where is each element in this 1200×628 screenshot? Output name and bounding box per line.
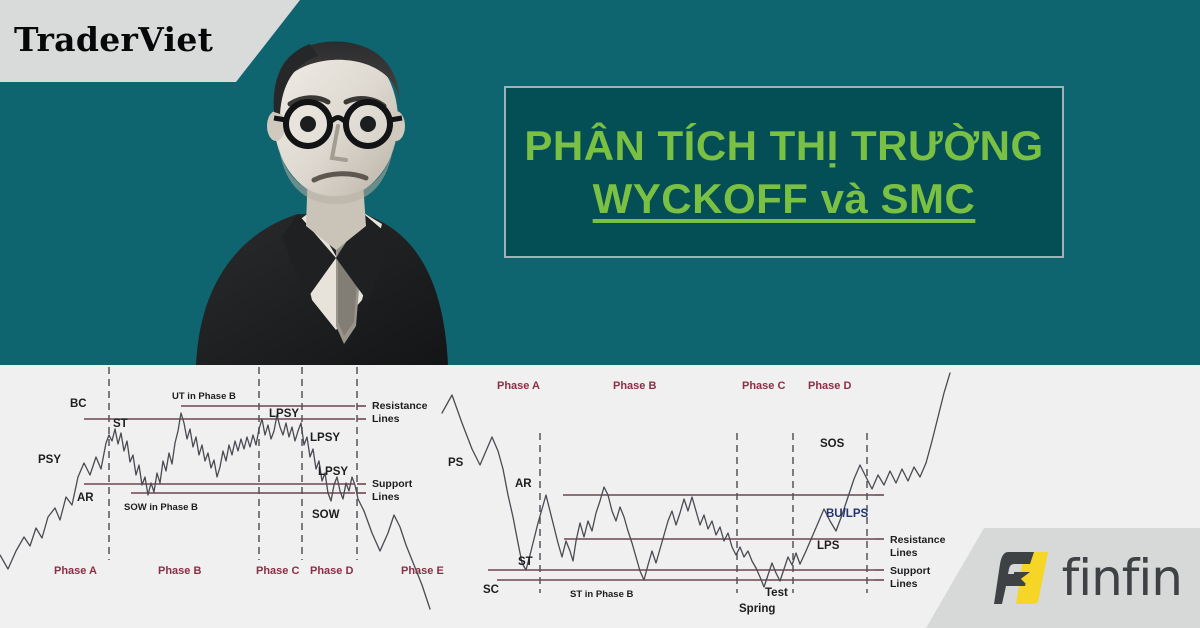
legend-support-line1: Support	[372, 478, 413, 490]
event-label-ps: PS	[448, 457, 464, 469]
distribution-schematic: PSY BC AR ST UT in Phase B SOW in Phase …	[0, 367, 444, 609]
hero-banner: TraderViet PHÂN TÍCH THỊ TRƯỜNG WYCKOFF …	[0, 0, 1200, 365]
event-label-st-phase-b: ST in Phase B	[570, 589, 633, 600]
event-label-sow-phase-b: SOW in Phase B	[124, 502, 198, 513]
phase-label-c-left: Phase C	[256, 565, 299, 577]
phase-label-b-left: Phase B	[158, 565, 201, 577]
event-label-lpsy-3: LPSY	[318, 466, 348, 478]
title-box: PHÂN TÍCH THỊ TRƯỜNG WYCKOFF và SMC	[504, 86, 1064, 258]
legend-support-line2: Lines	[372, 491, 400, 503]
phase-label-a-left: Phase A	[54, 565, 97, 577]
finfin-logo: finfin	[994, 550, 1182, 606]
phase-label-d-left: Phase D	[310, 565, 353, 577]
phase-label-d-right: Phase D	[808, 380, 851, 392]
page-title-line1: PHÂN TÍCH THỊ TRƯỜNG	[524, 122, 1043, 169]
event-label-st: ST	[113, 418, 128, 430]
finfin-mark-icon	[994, 550, 1056, 606]
phase-label-e-left: Phase E	[401, 565, 444, 577]
phase-label-c-right: Phase C	[742, 380, 785, 392]
event-label-ar-right: AR	[515, 478, 532, 490]
legend-resistance-line2: Lines	[372, 413, 400, 425]
event-label-psy: PSY	[38, 454, 61, 466]
phase-label-b-right: Phase B	[613, 380, 656, 392]
event-label-sc: SC	[483, 584, 499, 596]
event-label-ar: AR	[77, 492, 94, 504]
event-label-ut-phase-b: UT in Phase B	[172, 391, 236, 402]
event-label-spring: Spring	[739, 603, 775, 615]
legend-support-line2-right: Lines	[890, 578, 918, 590]
legend-support-line1-right: Support	[890, 565, 931, 577]
accumulation-schematic: PS SC AR ST ST in Phase B Spring Test LP…	[442, 373, 950, 615]
poster-canvas: TraderViet PHÂN TÍCH THỊ TRƯỜNG WYCKOFF …	[0, 0, 1200, 628]
legend-resistance-line1-right: Resistance	[890, 534, 946, 546]
event-label-bc: BC	[70, 398, 87, 410]
event-label-test: Test	[765, 587, 788, 599]
event-label-st-right: ST	[518, 556, 533, 568]
page-title-line2: WYCKOFF và SMC	[593, 175, 976, 222]
event-label-sos: SOS	[820, 438, 845, 450]
legend-resistance-line1: Resistance	[372, 400, 428, 412]
phase-label-a-right: Phase A	[497, 380, 540, 392]
legend-resistance-line2-right: Lines	[890, 547, 918, 559]
event-label-bu-lps: BU/LPS	[826, 508, 869, 520]
event-label-sow: SOW	[312, 509, 340, 521]
event-label-lps: LPS	[817, 540, 840, 552]
event-label-lpsy-2: LPSY	[310, 432, 340, 444]
finfin-wordmark: finfin	[1062, 553, 1182, 603]
brand-wordmark: TraderViet	[14, 23, 213, 56]
event-label-lpsy-1: LPSY	[269, 408, 299, 420]
wyckoff-schematics-panel: .pl{fill:none;stroke:#4a4a52;stroke-widt…	[0, 365, 1200, 628]
